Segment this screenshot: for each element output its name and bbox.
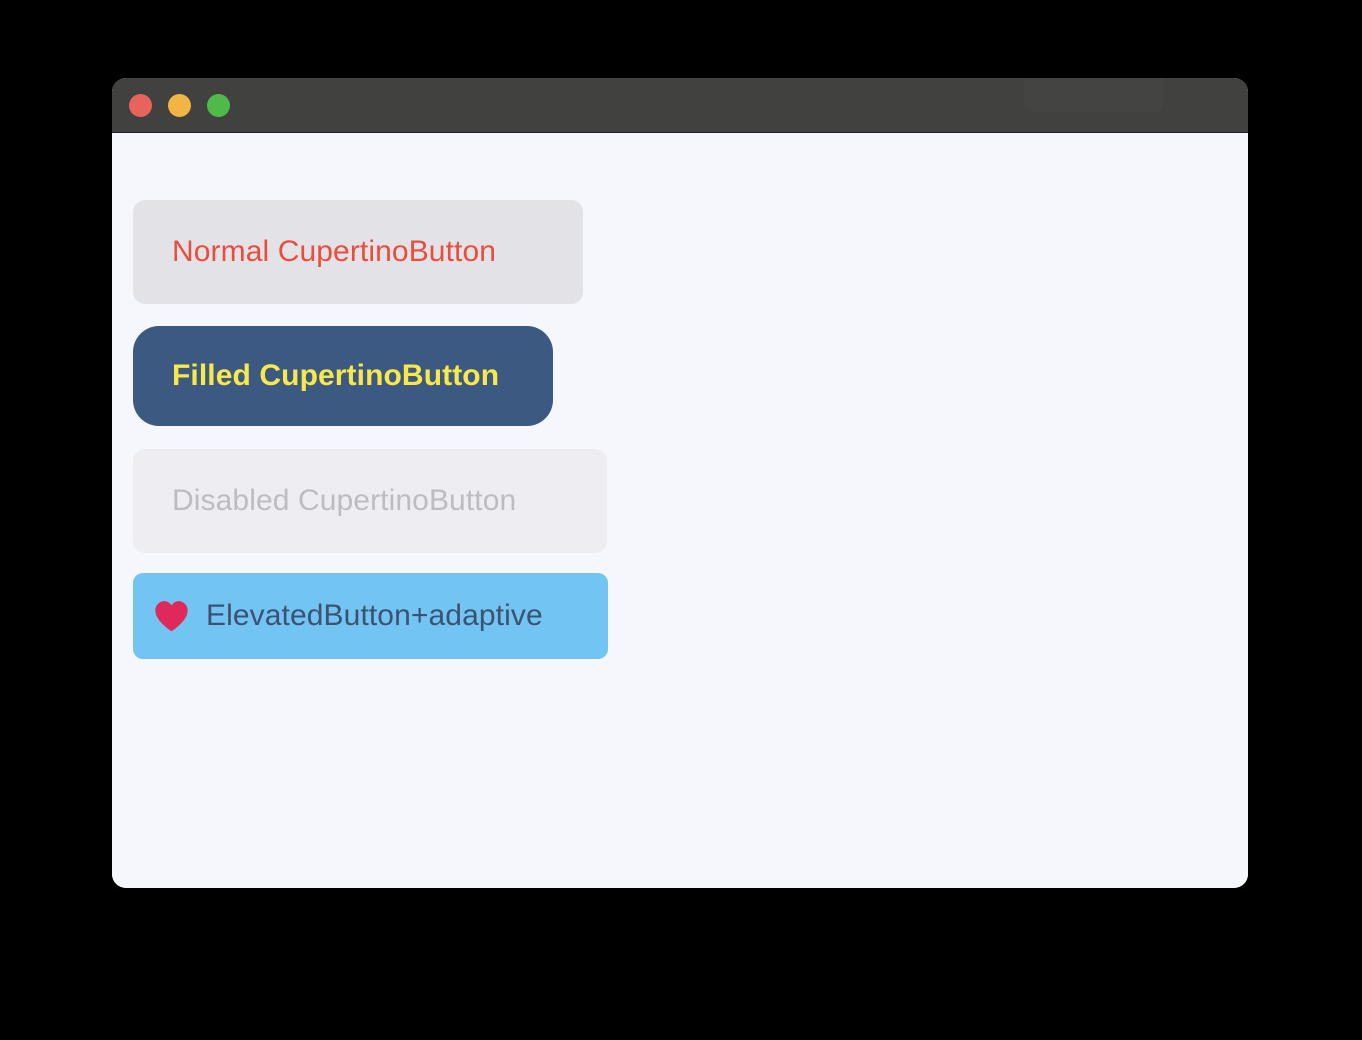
titlebar-decoration	[1024, 78, 1164, 112]
window-title-bar[interactable]	[112, 78, 1248, 133]
filled-cupertino-button-label: Filled CupertinoButton	[172, 359, 499, 393]
close-window-button[interactable]	[129, 94, 152, 117]
disabled-cupertino-button-label: Disabled CupertinoButton	[172, 484, 516, 518]
filled-cupertino-button[interactable]: Filled CupertinoButton	[133, 326, 553, 426]
normal-cupertino-button-label: Normal CupertinoButton	[172, 235, 496, 269]
window-content-area: Normal CupertinoButton Filled CupertinoB…	[112, 133, 1248, 888]
normal-cupertino-button[interactable]: Normal CupertinoButton	[133, 200, 583, 304]
maximize-window-button[interactable]	[207, 94, 230, 117]
heart-icon	[154, 600, 189, 632]
app-window: Normal CupertinoButton Filled CupertinoB…	[112, 78, 1248, 888]
minimize-window-button[interactable]	[168, 94, 191, 117]
disabled-cupertino-button: Disabled CupertinoButton	[133, 449, 607, 553]
elevated-adaptive-button[interactable]: ElevatedButton+adaptive	[133, 573, 608, 659]
traffic-light-group	[129, 94, 230, 117]
elevated-adaptive-button-label: ElevatedButton+adaptive	[206, 599, 543, 633]
